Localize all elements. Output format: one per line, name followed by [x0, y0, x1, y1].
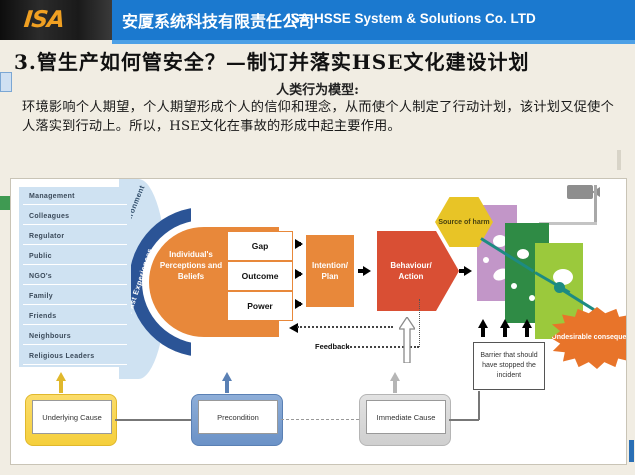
barrier-arrow-stem	[481, 327, 485, 337]
arrow-intention-to-behaviour	[363, 266, 371, 276]
arrow-power-to-intention	[295, 299, 303, 309]
undesirable-consequences-label: Undesirable consequences	[552, 333, 627, 343]
intention-plan-box: Intention/ Plan	[306, 235, 354, 307]
list-item: Family	[23, 289, 127, 305]
immediate-cause-box: Immediate Cause	[359, 394, 451, 446]
barrier-label: Barrier that should have stopped the inc…	[476, 351, 542, 381]
core-label: Individual's Perceptions and Beliefs	[156, 249, 226, 282]
cause-feed-arrow-stem	[393, 379, 397, 393]
barrier-arrow-2	[500, 319, 510, 328]
human-behaviour-model-diagram: Influencing Environment Past Experiences…	[10, 178, 627, 465]
barrier-arrow-stem	[525, 327, 529, 337]
precondition-box: Precondition	[191, 394, 283, 446]
cause-feed-arrow-gray	[390, 372, 400, 381]
source-of-harm-label: Source of harm	[438, 218, 489, 227]
slide-header: ISA 安厦系统科技有限责任公司 ISA-HSSE System & Solut…	[0, 0, 635, 42]
company-title-bar: 安厦系统科技有限责任公司 ISA-HSSE System & Solutions…	[112, 0, 635, 40]
list-item: Regulator	[23, 229, 127, 245]
arrow-gap-to-intention	[295, 239, 303, 249]
arrow-behaviour-to-barriers	[464, 266, 472, 276]
sub-heading: 人类行为模型:	[0, 79, 635, 98]
arrow-outcome-to-intention	[295, 269, 303, 279]
behaviour-action-label: Behaviour/ Action	[377, 260, 445, 282]
precondition-label: Precondition	[198, 400, 278, 434]
intention-plan-label: Intention/ Plan	[306, 260, 354, 282]
connector-underlying-precondition	[115, 419, 191, 421]
cause-feed-arrow-yellow	[56, 372, 66, 381]
logo-text: ISA	[23, 7, 66, 33]
underlying-cause-box: Underlying Cause	[25, 394, 117, 446]
body-paragraph: 环境影响个人期望，个人期望形成个人的信仰和理念，从而使个人制定了行动计划，该计划…	[22, 98, 614, 136]
list-item: Neighbours	[23, 329, 127, 345]
feedback-dash-upper	[297, 326, 393, 328]
company-name-cn: 安厦系统科技有限责任公司	[122, 8, 314, 32]
list-item: NGO's	[23, 269, 127, 285]
list-item: Management	[23, 189, 127, 205]
page-title: 3.管生产如何管安全？—制订并落实HSE文化建设计划	[14, 46, 624, 75]
connector-immediate-barrier	[449, 419, 479, 421]
right-edge-marker-secondary[interactable]	[617, 150, 621, 170]
cheese-hole	[483, 257, 489, 263]
feedback-vertical-dotted	[419, 299, 420, 347]
underlying-cause-label: Underlying Cause	[32, 400, 112, 434]
barrier-box: Barrier that should have stopped the inc…	[473, 342, 545, 390]
connector-vertical-barrier	[478, 391, 480, 420]
header-underline	[112, 40, 635, 44]
list-item: Friends	[23, 309, 127, 325]
company-name-en: ISA-HSSE System & Solutions Co. LTD	[287, 11, 536, 26]
camera-pole	[594, 185, 597, 225]
video-camera-icon	[567, 185, 593, 199]
escalation-arrow-svg	[399, 317, 415, 363]
barrier-arrow-stem	[503, 327, 507, 337]
connector-precondition-immediate	[281, 419, 359, 420]
stakeholder-panel: Management Colleagues Regulator Public N…	[19, 187, 131, 367]
behaviour-action-shape: Behaviour/ Action	[377, 231, 459, 311]
gap-box: Gap	[227, 231, 293, 261]
list-item: Public	[23, 249, 127, 265]
immediate-cause-label: Immediate Cause	[366, 400, 446, 434]
list-item: Religious Leaders	[23, 349, 127, 365]
slide: ISA 安厦系统科技有限责任公司 ISA-HSSE System & Solut…	[0, 0, 635, 475]
right-edge-marker[interactable]	[629, 440, 634, 462]
feedback-arrowhead	[289, 323, 298, 333]
left-green-tab[interactable]	[0, 196, 10, 210]
outcome-box: Outcome	[227, 261, 293, 291]
barrier-arrow-1	[478, 319, 488, 328]
power-box: Power	[227, 291, 293, 321]
cause-feed-arrow-blue	[222, 372, 232, 381]
escalation-arrow	[399, 317, 415, 363]
barrier-arrow-3	[522, 319, 532, 328]
cheese-hole	[511, 283, 517, 289]
feedback-label: Feedback	[315, 342, 350, 351]
cause-feed-arrow-stem	[59, 379, 63, 393]
isa-logo: ISA	[0, 0, 112, 40]
cause-feed-arrow-stem	[225, 379, 229, 393]
cheese-hole	[517, 249, 529, 259]
list-item: Colleagues	[23, 209, 127, 225]
